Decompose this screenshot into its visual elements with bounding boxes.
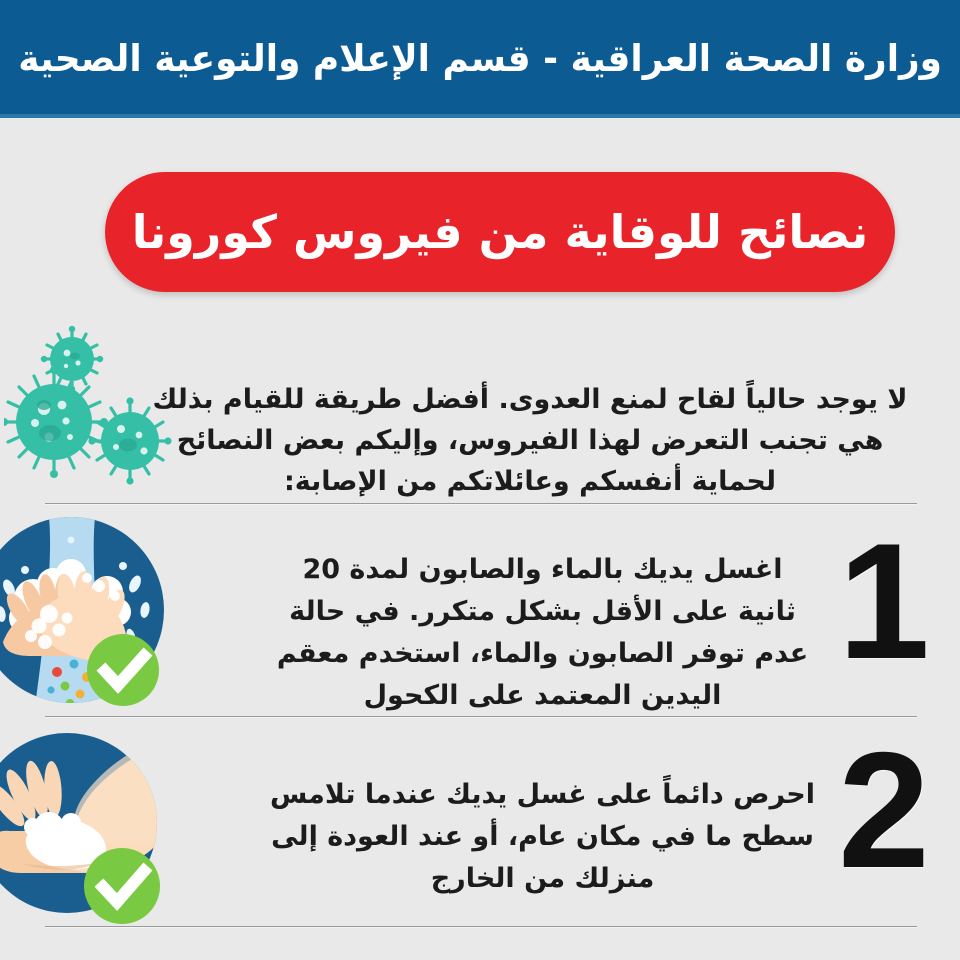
- tip-number: 2: [824, 735, 944, 887]
- washing-hands-icon: [0, 514, 175, 710]
- tip-number: 1: [824, 526, 944, 678]
- tip-body: اغسل يديك بالماء والصابون لمدة 20 ثانية …: [270, 522, 815, 744]
- divider-top: [45, 503, 917, 504]
- title-banner: نصائح للوقاية من فيروس كورونا: [105, 172, 895, 292]
- green-check-badge: [87, 634, 159, 706]
- tip-text: اغسل يديك بالماء والصابون لمدة 20 ثانية …: [270, 549, 815, 717]
- tip-text: احرص دائماً على غسل يديك عندما تلامس سطح…: [270, 774, 815, 900]
- infographic-page: وزارة الصحة العراقية - قسم الإعلام والتو…: [0, 0, 960, 960]
- intro-paragraph: لا يوجد حالياً لقاح لمنع العدوى. أفضل طر…: [140, 379, 920, 502]
- tip-row: اغسل يديك بالماء والصابون لمدة 20 ثانية …: [0, 508, 960, 714]
- tip-body: احرص دائماً على غسل يديك عندما تلامس سطح…: [270, 747, 815, 927]
- green-check-badge: [84, 848, 160, 924]
- header-bar: وزارة الصحة العراقية - قسم الإعلام والتو…: [0, 0, 960, 118]
- hand-sanitizer-rub-icon: [0, 731, 175, 927]
- header-title: وزارة الصحة العراقية - قسم الإعلام والتو…: [0, 37, 960, 81]
- tip-row: احرص دائماً على غسل يديك عندما تلامس سطح…: [0, 725, 960, 923]
- banner-title: نصائح للوقاية من فيروس كورونا: [132, 206, 868, 259]
